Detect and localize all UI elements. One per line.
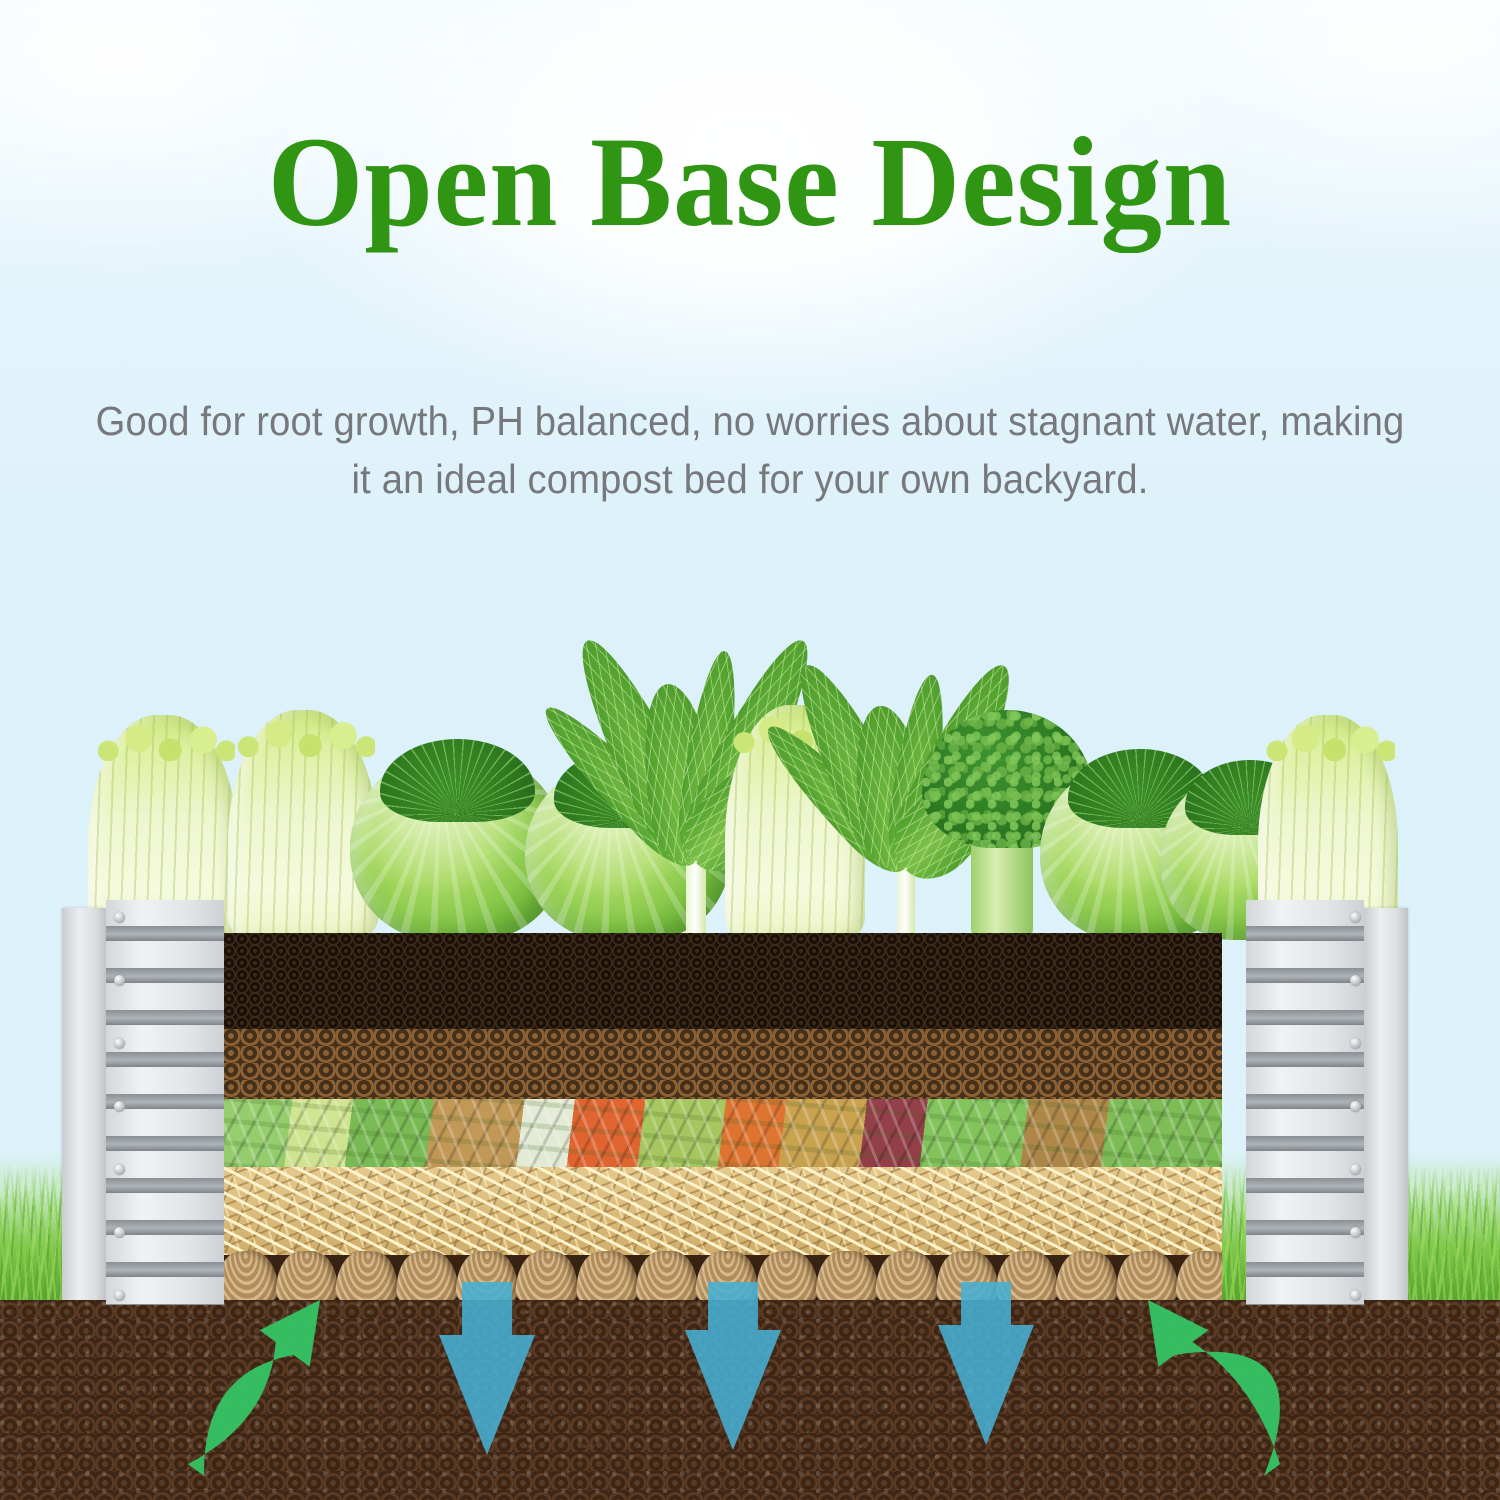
split-log bbox=[636, 1251, 698, 1305]
split-log bbox=[875, 1249, 940, 1305]
panel-rib bbox=[106, 1304, 224, 1305]
split-log bbox=[335, 1249, 400, 1305]
panel-rib bbox=[106, 1010, 224, 1025]
page-title: Open Base Design bbox=[30, 118, 1470, 246]
right-post-corner-trim bbox=[1364, 908, 1408, 1300]
panel-rib bbox=[1246, 1094, 1364, 1109]
split-log bbox=[816, 1251, 878, 1305]
layer-split-logs bbox=[222, 1255, 1222, 1305]
napa-frill bbox=[91, 711, 235, 761]
split-log bbox=[996, 1251, 1058, 1305]
split-log bbox=[935, 1249, 1000, 1305]
infographic-canvas: Open Base Design Good for root growth, P… bbox=[0, 0, 1500, 1500]
left-post-corner-trim bbox=[62, 908, 106, 1300]
split-log bbox=[1055, 1249, 1120, 1305]
panel-screw bbox=[114, 1290, 125, 1301]
panel-screw bbox=[1350, 1164, 1361, 1175]
split-log bbox=[575, 1249, 640, 1305]
right-post-ribbed-panel bbox=[1246, 900, 1364, 1305]
split-log bbox=[695, 1249, 760, 1305]
panel-screw bbox=[114, 912, 125, 923]
panel-rib bbox=[106, 1178, 224, 1193]
napa-frill bbox=[1261, 711, 1395, 761]
panel-screw bbox=[1350, 912, 1361, 923]
cabbage-outer-leaf bbox=[380, 739, 535, 823]
panel-rib bbox=[1246, 1262, 1364, 1277]
panel-rib bbox=[1246, 1136, 1364, 1151]
panel-rib bbox=[1246, 1010, 1364, 1025]
panel-rib bbox=[106, 926, 224, 941]
split-log bbox=[222, 1249, 279, 1305]
page-subtitle: Good for root growth, PH balanced, no wo… bbox=[90, 392, 1411, 508]
panel-rib bbox=[1246, 926, 1364, 941]
layer-straw bbox=[222, 1167, 1222, 1255]
layer-food-scraps bbox=[222, 1099, 1222, 1167]
ground-soil bbox=[0, 1300, 1500, 1500]
split-log bbox=[276, 1251, 338, 1305]
split-log bbox=[755, 1249, 820, 1305]
panel-rib bbox=[1246, 1178, 1364, 1193]
left-corner-post bbox=[62, 900, 227, 1305]
layer-topsoil bbox=[222, 933, 1222, 1029]
panel-screw bbox=[114, 1164, 125, 1175]
panel-screw bbox=[114, 1101, 125, 1112]
napa-frill bbox=[231, 706, 375, 757]
layer-bark-mulch bbox=[222, 1029, 1222, 1099]
split-log bbox=[1115, 1249, 1180, 1305]
panel-rib bbox=[1246, 968, 1364, 983]
panel-rib bbox=[106, 1136, 224, 1151]
panel-screw bbox=[114, 1227, 125, 1238]
split-log bbox=[395, 1249, 460, 1305]
right-corner-post bbox=[1216, 900, 1446, 1305]
panel-rib bbox=[106, 1052, 224, 1067]
panel-screw bbox=[1350, 1038, 1361, 1049]
split-log bbox=[515, 1249, 580, 1305]
panel-screw bbox=[1350, 1290, 1361, 1301]
panel-rib bbox=[106, 1262, 224, 1277]
panel-screw bbox=[114, 1038, 125, 1049]
panel-screw bbox=[1350, 1101, 1361, 1112]
split-log bbox=[456, 1251, 518, 1305]
panel-rib bbox=[1246, 1304, 1364, 1305]
compost-bed-cross-section bbox=[222, 933, 1222, 1305]
panel-screw bbox=[1350, 975, 1361, 986]
panel-screw bbox=[1350, 1227, 1361, 1238]
panel-screw bbox=[114, 975, 125, 986]
panel-rib bbox=[1246, 1220, 1364, 1235]
panel-rib bbox=[1246, 1052, 1364, 1067]
